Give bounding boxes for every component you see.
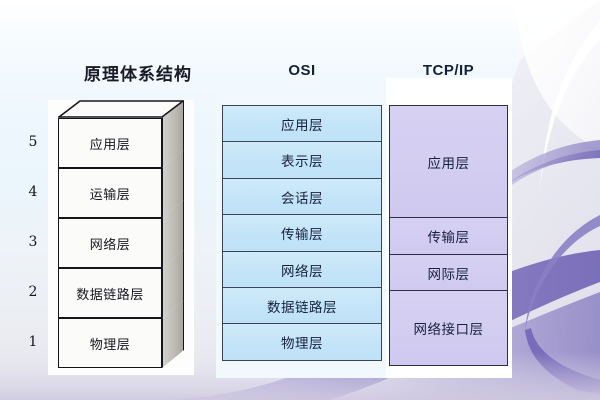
osi-layer-cell: 会话层 [222,178,382,216]
principle-layer-number-3: 3 [22,234,44,250]
principle-layer-number-1: 1 [22,334,44,350]
heading-osi: OSI [222,62,382,79]
principle-architecture-stack: 5应用层4运输层3网络层2数据链路层1物理层 [22,100,192,368]
osi-layer-stack: 应用层表示层会话层传输层网络层数据链路层物理层 [222,105,382,361]
osi-layer-cell: 传输层 [222,214,382,252]
heading-tcpip: TCP/IP [389,62,508,79]
principle-layer-cell: 数据链路层 [58,268,162,318]
principle-layer-number-2: 2 [22,284,44,300]
osi-layer-cell: 表示层 [222,141,382,179]
cube-top-face [58,100,184,118]
tcpip-layer-cell: 网络接口层 [389,290,508,366]
osi-layer-cell: 数据链路层 [222,287,382,325]
tcpip-layer-cell: 传输层 [389,217,508,255]
tcpip-layer-stack: 应用层传输层网际层网络接口层 [389,105,508,366]
osi-layer-cell: 网络层 [222,251,382,289]
tcpip-layer-cell: 应用层 [389,105,508,219]
osi-layer-cell: 物理层 [222,323,382,361]
slide-content: 原理体系结构 OSI TCP/IP 5应用层4运输层3网络层2数据链路层1物理层… [0,0,600,400]
principle-layer-number-4: 4 [22,184,44,200]
principle-layer-cell: 应用层 [58,118,162,168]
osi-layer-cell: 应用层 [222,105,382,143]
principle-layer-cell: 物理层 [58,318,162,368]
tcpip-layer-cell: 网际层 [389,254,508,292]
principle-layer-number-5: 5 [22,134,44,150]
heading-principle-architecture: 原理体系结构 [58,60,218,85]
principle-layer-cell: 运输层 [58,168,162,218]
principle-layer-cell: 网络层 [58,218,162,268]
